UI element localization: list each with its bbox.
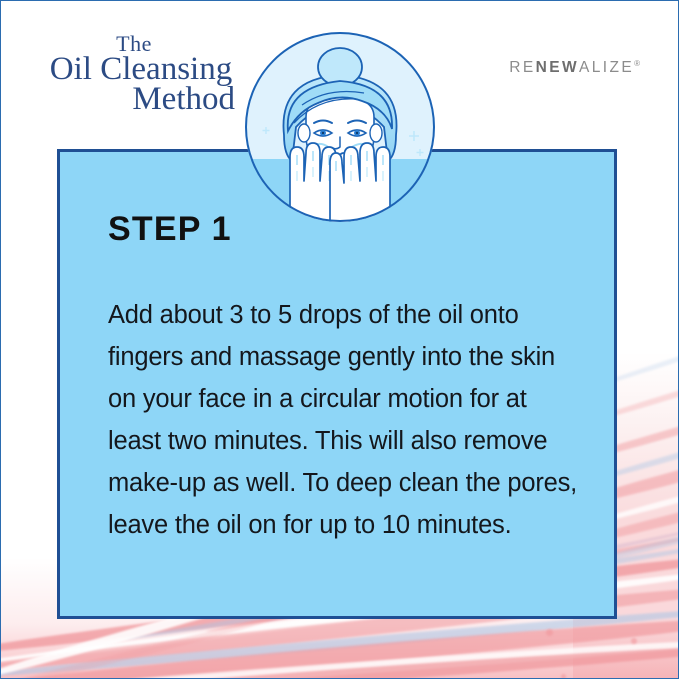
brand-bold: NEW bbox=[536, 59, 579, 76]
step-description-line: least two minutes. This will also remove bbox=[108, 420, 588, 462]
watercolor-dot bbox=[546, 629, 553, 636]
step-description-line: fingers and massage gently into the skin bbox=[108, 336, 588, 378]
step-description-line: leave the oil on for up to 10 minutes. bbox=[108, 504, 588, 546]
page-title: The Oil Cleansing Method bbox=[41, 33, 241, 116]
step-description-line: Add about 3 to 5 drops of the oil onto bbox=[108, 294, 588, 336]
watercolor-dot bbox=[561, 674, 566, 679]
step-description: Add about 3 to 5 drops of the oil ontofi… bbox=[108, 294, 588, 546]
infographic-card: The Oil Cleansing Method RENEWALIZE® bbox=[0, 0, 679, 679]
brand-prefix: RE bbox=[509, 59, 535, 76]
brand-logo: RENEWALIZE® bbox=[509, 59, 640, 77]
registered-trademark-icon: ® bbox=[634, 59, 640, 68]
brand-suffix: ALIZE bbox=[579, 59, 634, 76]
watercolor-dot bbox=[631, 638, 637, 644]
woman-washing-face-illustration bbox=[244, 31, 436, 223]
title-line-method: Method bbox=[41, 83, 241, 116]
step-label: STEP 1 bbox=[108, 210, 232, 249]
header: The Oil Cleansing Method RENEWALIZE® bbox=[1, 1, 679, 151]
step-description-line: make-up as well. To deep clean the pores… bbox=[108, 462, 588, 504]
step-description-line: on your face in a circular motion for at bbox=[108, 378, 588, 420]
